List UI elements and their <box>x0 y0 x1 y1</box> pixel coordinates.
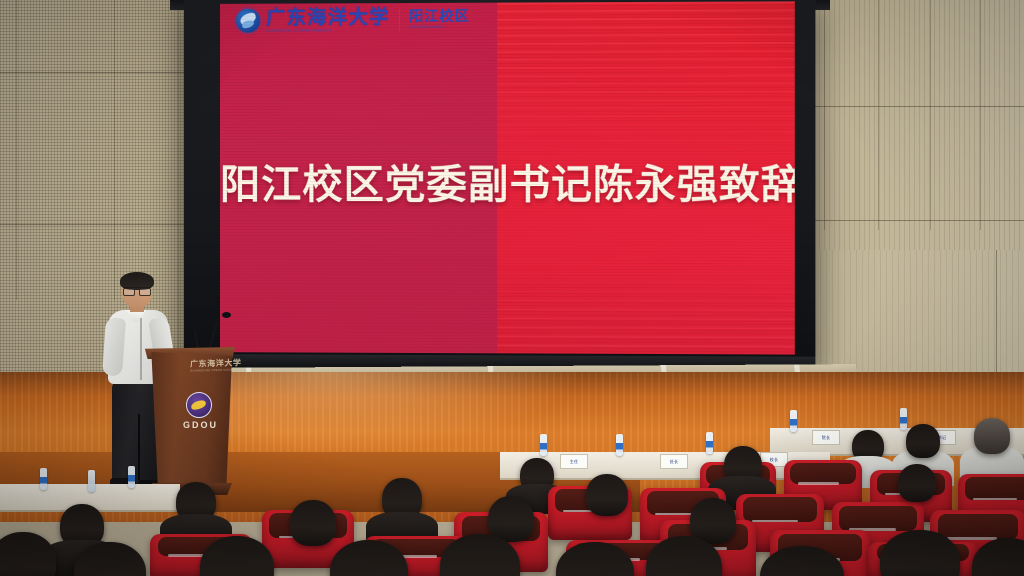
slide-main-title: 阳江校区党委副书记陈永强致辞 <box>220 152 795 211</box>
attendee-head <box>898 464 936 502</box>
attendee-head <box>0 532 56 576</box>
campus-name-cn: 阳江校区 <box>409 10 470 24</box>
audience-area: 院长 书记 主任 处长 校长 <box>0 400 1024 576</box>
slide-stripe-texture-bottom <box>497 262 795 354</box>
brand-divider <box>399 9 400 31</box>
speaker-arm-left <box>102 317 126 376</box>
campus-text-block: 阳江校区 YANGJIANG CAMPUS <box>409 10 470 30</box>
slide-brand-header: 广东海洋大学 GUANGDONG OCEAN UNIVERSITY 阳江校区 Y… <box>236 5 470 36</box>
microphone-capsule <box>222 312 231 318</box>
water-bottle-icon <box>128 466 135 488</box>
brand-name-en: GUANGDONG OCEAN UNIVERSITY <box>266 29 390 33</box>
attendee-head <box>906 424 940 458</box>
water-bottle-icon <box>900 408 907 430</box>
speaker-shirt-placket <box>140 318 142 380</box>
name-card: 主任 <box>560 454 588 469</box>
led-screen-display[interactable]: 广东海洋大学 GUANGDONG OCEAN UNIVERSITY 阳江校区 Y… <box>220 1 795 354</box>
attendee-head <box>586 474 628 516</box>
led-screen-frame: 广东海洋大学 GUANGDONG OCEAN UNIVERSITY 阳江校区 Y… <box>184 0 815 373</box>
lecture-hall-scene: 广东海洋大学 GUANGDONG OCEAN UNIVERSITY 阳江校区 Y… <box>0 0 1024 576</box>
water-bottle-icon <box>616 434 623 456</box>
water-bottle-icon <box>40 468 47 490</box>
brand-text-block: 广东海洋大学 GUANGDONG OCEAN UNIVERSITY <box>266 8 390 33</box>
gdou-wave-logo-icon <box>236 9 260 33</box>
name-card: 院长 <box>812 430 840 445</box>
campus-name-en: YANGJIANG CAMPUS <box>409 26 470 30</box>
eyeglasses-icon <box>123 287 151 294</box>
water-bottle-icon <box>706 432 713 454</box>
attendee-head <box>290 500 336 546</box>
water-bottle-icon <box>540 434 547 456</box>
name-card: 处长 <box>660 454 688 469</box>
brand-name-cn: 广东海洋大学 <box>266 8 390 28</box>
attendee-head <box>974 418 1010 454</box>
water-bottle-icon <box>88 470 95 492</box>
water-bottle-icon <box>790 410 797 432</box>
